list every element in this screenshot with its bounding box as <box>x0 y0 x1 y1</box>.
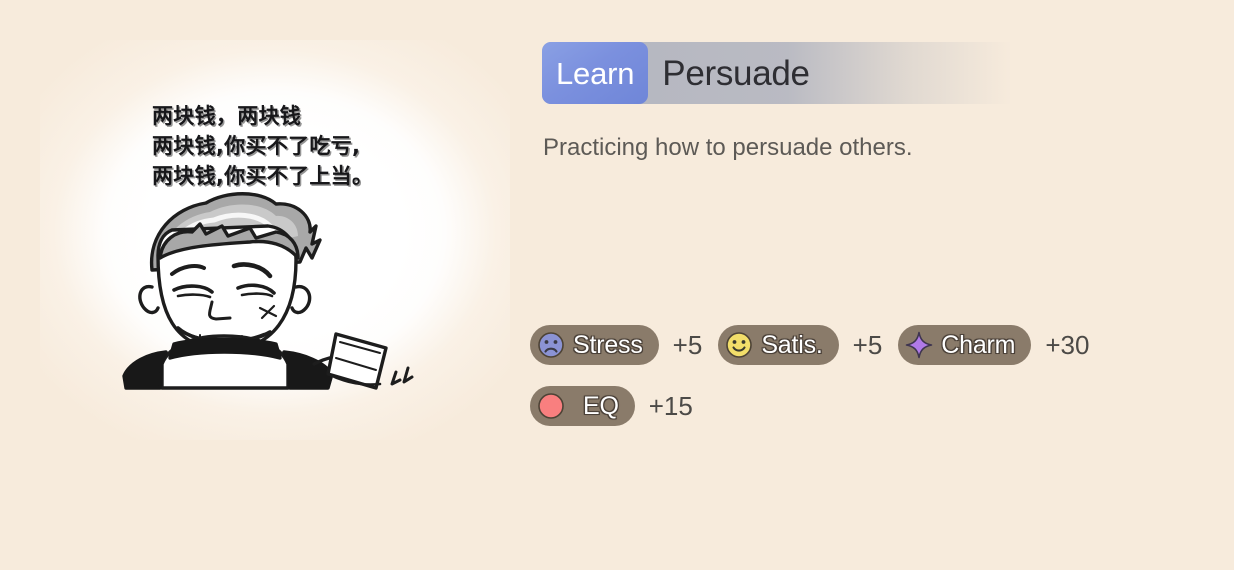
stat-value-eq: +15 <box>649 393 693 419</box>
stat-label-satisfaction: Satis. <box>761 333 822 358</box>
skill-effects-list: Stress +5 Satis. +5 <box>530 325 1234 447</box>
effect-item-stress: Stress +5 <box>530 325 702 365</box>
circle-icon <box>537 392 565 420</box>
smiling-face-icon <box>725 331 753 359</box>
stat-value-charm: +30 <box>1045 332 1089 358</box>
stat-label-stress: Stress <box>573 333 643 358</box>
category-tag-learn[interactable]: Learn <box>542 42 648 104</box>
stat-label-eq: EQ <box>583 394 619 419</box>
stat-value-stress: +5 <box>673 332 703 358</box>
skill-description: Practicing how to persuade others. <box>543 132 1163 163</box>
meme-caption-text: 两块钱，两块钱 两块钱,你买不了吃亏, 两块钱,你买不了上当。 <box>152 102 492 191</box>
illustration-pane: 两块钱，两块钱 两块钱,你买不了吃亏, 两块钱,你买不了上当。 <box>0 0 530 570</box>
cartoon-figure-icon <box>100 182 420 397</box>
effect-item-satisfaction: Satis. +5 <box>718 325 882 365</box>
stat-label-charm: Charm <box>941 333 1015 358</box>
skill-title: Persuade <box>648 42 819 104</box>
effect-item-eq: EQ +15 <box>530 386 693 426</box>
effect-item-charm: Charm +30 <box>898 325 1089 365</box>
illustration-image: 两块钱，两块钱 两块钱,你买不了吃亏, 两块钱,你买不了上当。 <box>40 40 510 440</box>
stat-pill-satisfaction[interactable]: Satis. <box>718 325 838 365</box>
sparkle-icon <box>905 331 933 359</box>
stat-pill-charm[interactable]: Charm <box>898 325 1031 365</box>
stat-value-satisfaction: +5 <box>853 332 883 358</box>
detail-pane: Learn Persuade Practicing how to persuad… <box>530 0 1234 570</box>
skill-title-bar: Learn Persuade <box>542 42 1012 104</box>
frowning-face-icon <box>537 331 565 359</box>
stat-pill-eq[interactable]: EQ <box>530 386 635 426</box>
stat-pill-stress[interactable]: Stress <box>530 325 659 365</box>
skill-detail-card: 两块钱，两块钱 两块钱,你买不了吃亏, 两块钱,你买不了上当。 <box>0 0 1234 570</box>
